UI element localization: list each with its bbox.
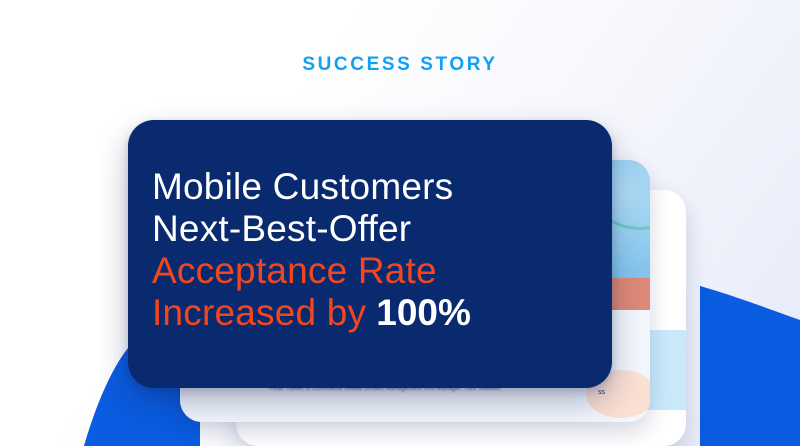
- headline-line-4: Increased by100%: [152, 292, 594, 334]
- headline-line-3: Acceptance Rate: [152, 250, 594, 292]
- headline-line-4-prefix: Increased by: [152, 292, 366, 333]
- headline-metric-value: 100%: [376, 292, 471, 333]
- page-title: SUCCESS STORY: [0, 54, 800, 76]
- headline-line-1: Mobile Customers: [152, 166, 594, 208]
- hero-card: Mobile Customers Next-Best-Offer Accepta…: [128, 120, 612, 388]
- hero-headline: Mobile Customers Next-Best-Offer Accepta…: [152, 166, 594, 334]
- headline-line-2: Next-Best-Offer: [152, 208, 594, 250]
- blue-wedge-right-curve: [700, 286, 800, 446]
